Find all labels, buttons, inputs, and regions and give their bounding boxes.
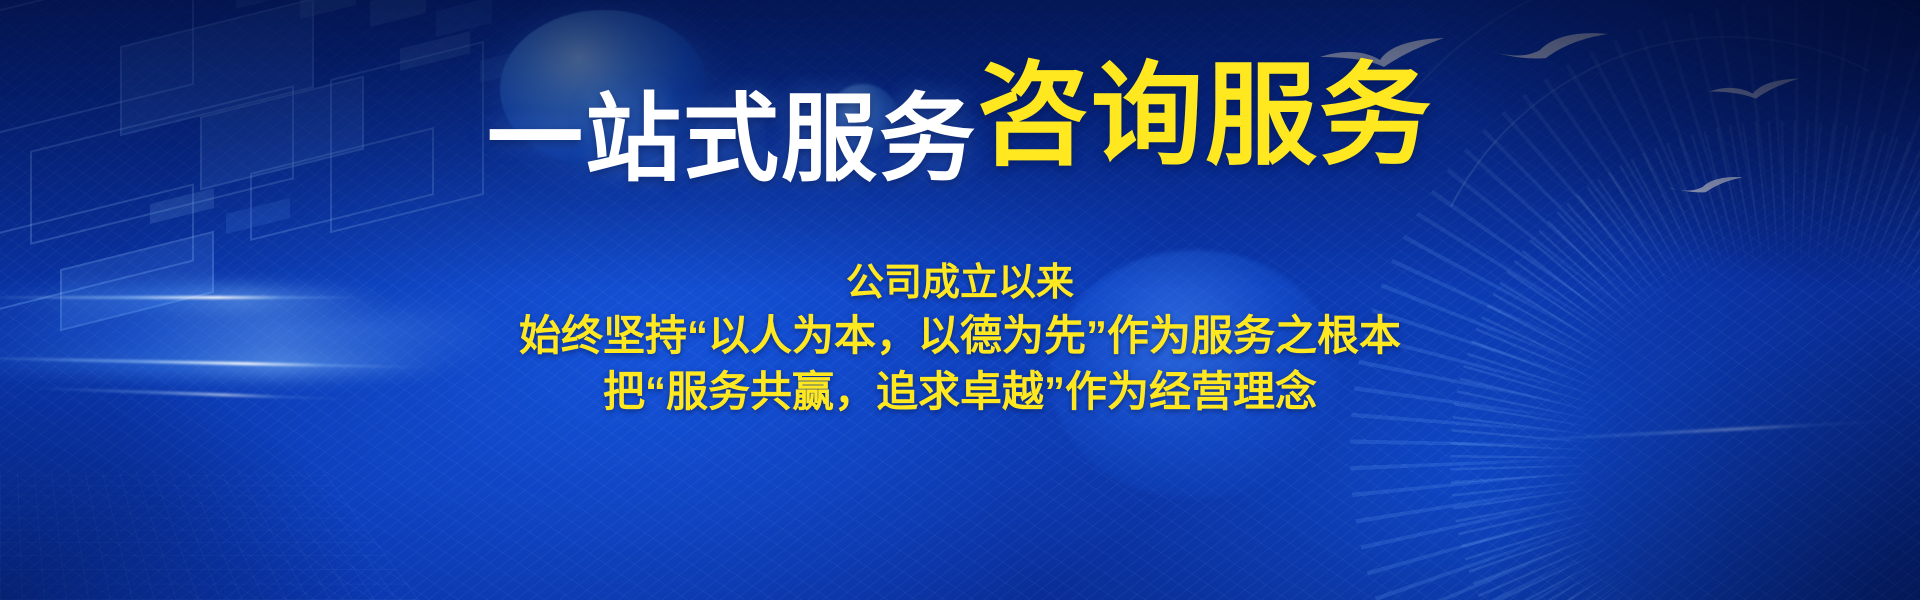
headline-yellow-text: 咨询服务 — [977, 53, 1433, 178]
banner-root: 一站式服务咨询服务 公司成立以来 始终坚持“以人为本，以德为先”作为服务之根本 … — [0, 0, 1920, 600]
subtitle-line-2: 始终坚持“以人为本，以德为先”作为服务之根本 — [0, 308, 1920, 363]
headline-white-text: 一站式服务 — [487, 86, 977, 193]
banner-content: 一站式服务咨询服务 公司成立以来 始终坚持“以人为本，以德为先”作为服务之根本 … — [0, 0, 1920, 600]
subtitle-line-1: 公司成立以来 — [0, 258, 1920, 308]
subtitle-block: 公司成立以来 始终坚持“以人为本，以德为先”作为服务之根本 把“服务共赢，追求卓… — [0, 258, 1920, 419]
subtitle-line-3: 把“服务共赢，追求卓越”作为经营理念 — [0, 364, 1920, 419]
headline: 一站式服务咨询服务 — [0, 78, 1920, 190]
